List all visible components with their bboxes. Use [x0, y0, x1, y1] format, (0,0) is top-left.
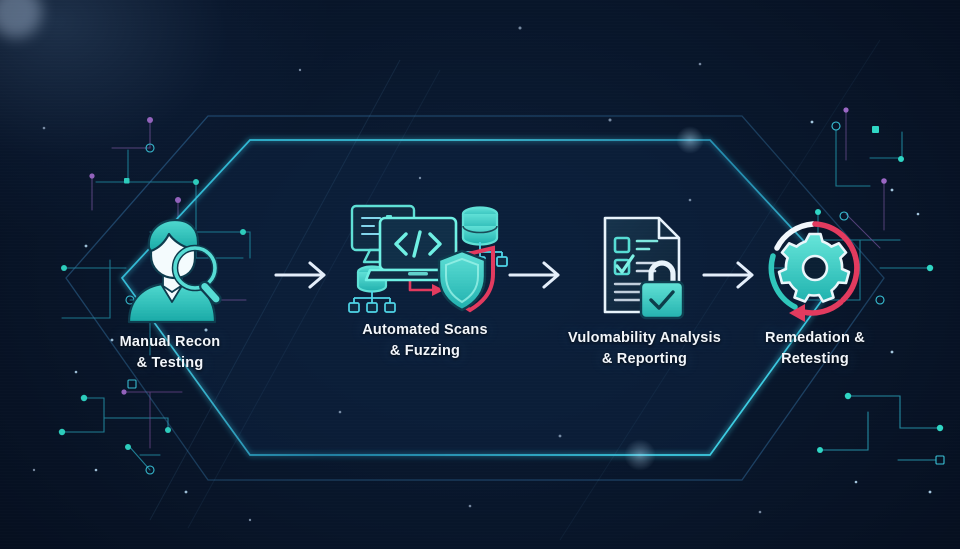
arrow-right-icon: [272, 258, 334, 292]
step-1-icon-wrap: [70, 212, 270, 332]
connector-arrow-1: [272, 258, 334, 292]
gear-icon: [779, 234, 849, 302]
step-4-icon-wrap: [745, 208, 885, 328]
step-1-label: Manual Recon & Testing: [70, 332, 270, 374]
process-step-2[interactable]: Automated Scans & Fuzzing: [330, 200, 520, 362]
step-2-icon-wrap: [330, 200, 520, 320]
step-4-label: Remedation & Retesting: [745, 328, 885, 370]
process-steps: Manual Recon & Testing: [0, 0, 960, 549]
gear-refresh-cycle-icon: [757, 212, 873, 324]
person-with-magnifier-icon: [111, 218, 229, 326]
laptop-code-database-shield-icon: [340, 198, 510, 322]
document-checklist-lock-icon: [593, 212, 697, 324]
step-3-label: Vulomability Analysis & Reporting: [552, 328, 737, 370]
process-step-1[interactable]: Manual Recon & Testing: [70, 212, 270, 374]
process-step-4[interactable]: Remedation & Retesting: [745, 208, 885, 370]
step-2-label: Automated Scans & Fuzzing: [330, 320, 520, 362]
infographic-canvas: Manual Recon & Testing: [0, 0, 960, 549]
